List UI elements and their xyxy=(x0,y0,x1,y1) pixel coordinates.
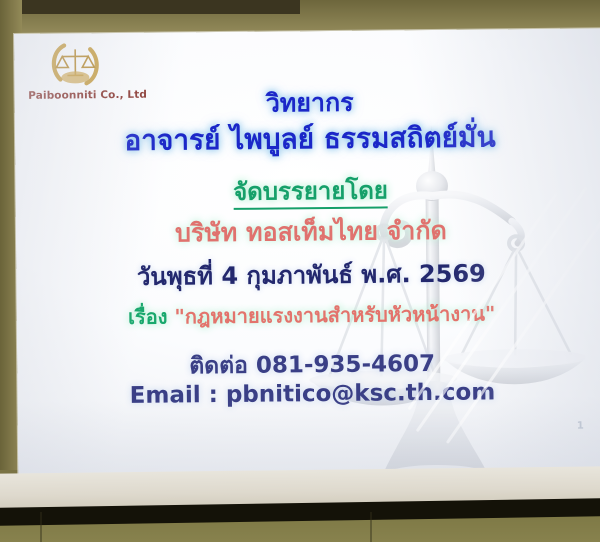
contact-email: Email : pbnitico@ksc.th.com xyxy=(17,378,600,410)
topic-title: "กฎหมายแรงงานสำหรับหัวหน้างาน" xyxy=(174,301,495,328)
floor-seam xyxy=(40,512,42,542)
projection-screen: Paiboonniti Co., Ltd วิทยากร อาจารย์ ไพบ… xyxy=(14,28,600,482)
organizing-company: บริษัท ทอสเท็มไทย จำกัด xyxy=(16,209,600,255)
organized-by-label: จัดบรรยายโดย xyxy=(15,168,600,213)
event-date: วันพุธที่ 4 กุมภาพันธ์ พ.ศ. 2569 xyxy=(16,252,600,297)
topic-prefix-label: เรื่อง xyxy=(128,305,168,329)
speaker-name: อาจารย์ ไพบูลย์ ธรรมสถิตย์มั่น xyxy=(15,114,600,164)
floor-seam xyxy=(370,512,372,542)
slide-page-number: 1 xyxy=(577,421,584,432)
seminar-topic: เรื่อง "กฎหมายแรงงานสำหรับหัวหน้างาน" xyxy=(17,296,600,334)
photo-of-projected-slide: Paiboonniti Co., Ltd วิทยากร อาจารย์ ไพบ… xyxy=(0,0,600,542)
room-wall-shadow xyxy=(0,0,300,14)
slide-content: วิทยากร อาจารย์ ไพบูลย์ ธรรมสถิตย์มั่น จ… xyxy=(14,28,600,482)
organized-by-text: จัดบรรยายโดย xyxy=(233,176,388,209)
